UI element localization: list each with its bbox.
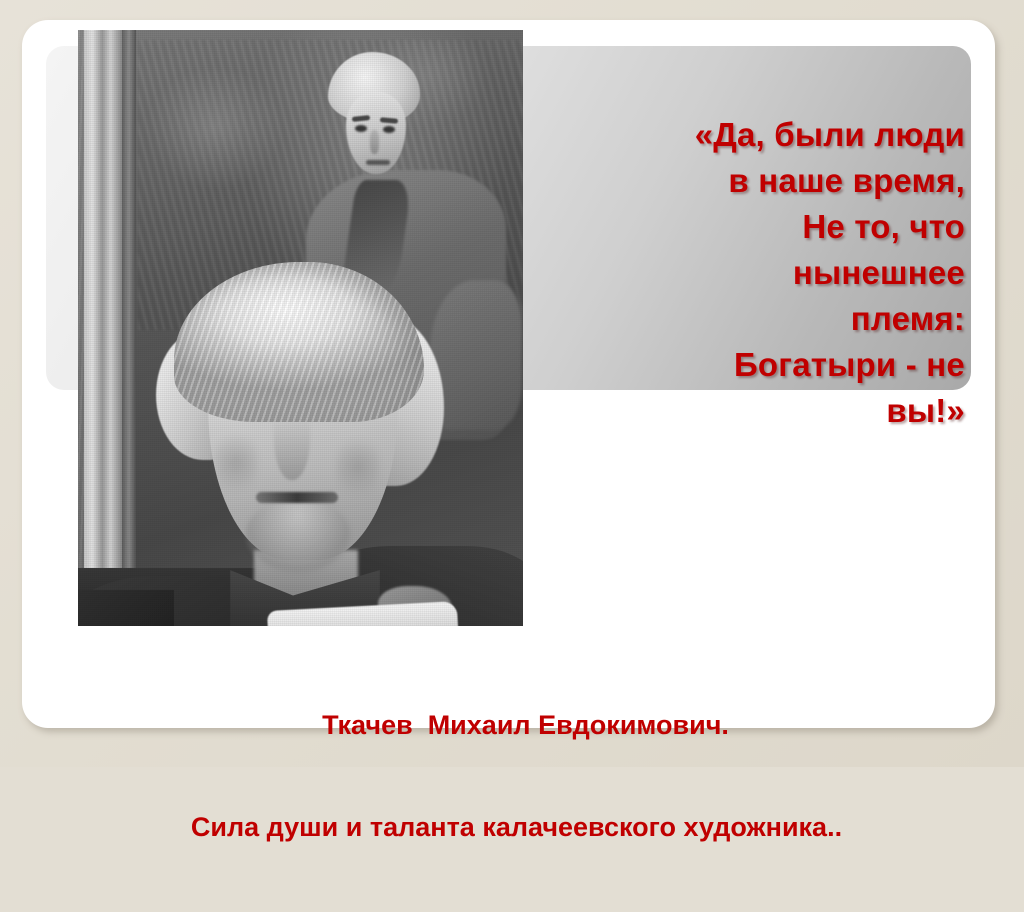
quote-block: «Да, были люди в наше время, Не то, что … <box>545 112 965 434</box>
subject-jacket-shadow <box>78 590 174 626</box>
caption-block: Ткачев Михаил Евдокимович. Сила души и т… <box>24 640 1009 912</box>
painting-figure-eye-left <box>355 125 367 132</box>
subject-chin <box>246 500 350 572</box>
picture-frame-inner-edge <box>122 30 136 626</box>
painting-figure-nose <box>370 130 379 154</box>
quote-line-2: в наше время, <box>545 158 965 204</box>
caption-artist-name: Ткачев Михаил Евдокимович. <box>24 708 1009 742</box>
caption-subtitle: Сила души и таланта калачеевского художн… <box>24 810 1009 844</box>
subject-cheek-right <box>336 432 380 502</box>
quote-line-3: Не то, что <box>545 204 965 250</box>
subject-cheek-left <box>214 428 258 498</box>
quote-line-5: племя: <box>545 296 965 342</box>
picture-frame-moulding <box>84 30 122 626</box>
painting-figure-mouth <box>366 160 390 165</box>
quote-line-7: вы!» <box>545 388 965 434</box>
subject-mouth <box>256 492 338 503</box>
slide: «Да, были люди в наше время, Не то, что … <box>0 0 1024 767</box>
quote-line-6: Богатыри - не <box>545 342 965 388</box>
painting-figure-eye-right <box>383 126 395 133</box>
quote-line-1: «Да, были люди <box>545 112 965 158</box>
artist-photo <box>78 30 523 626</box>
quote-line-4: нынешнее <box>545 250 965 296</box>
